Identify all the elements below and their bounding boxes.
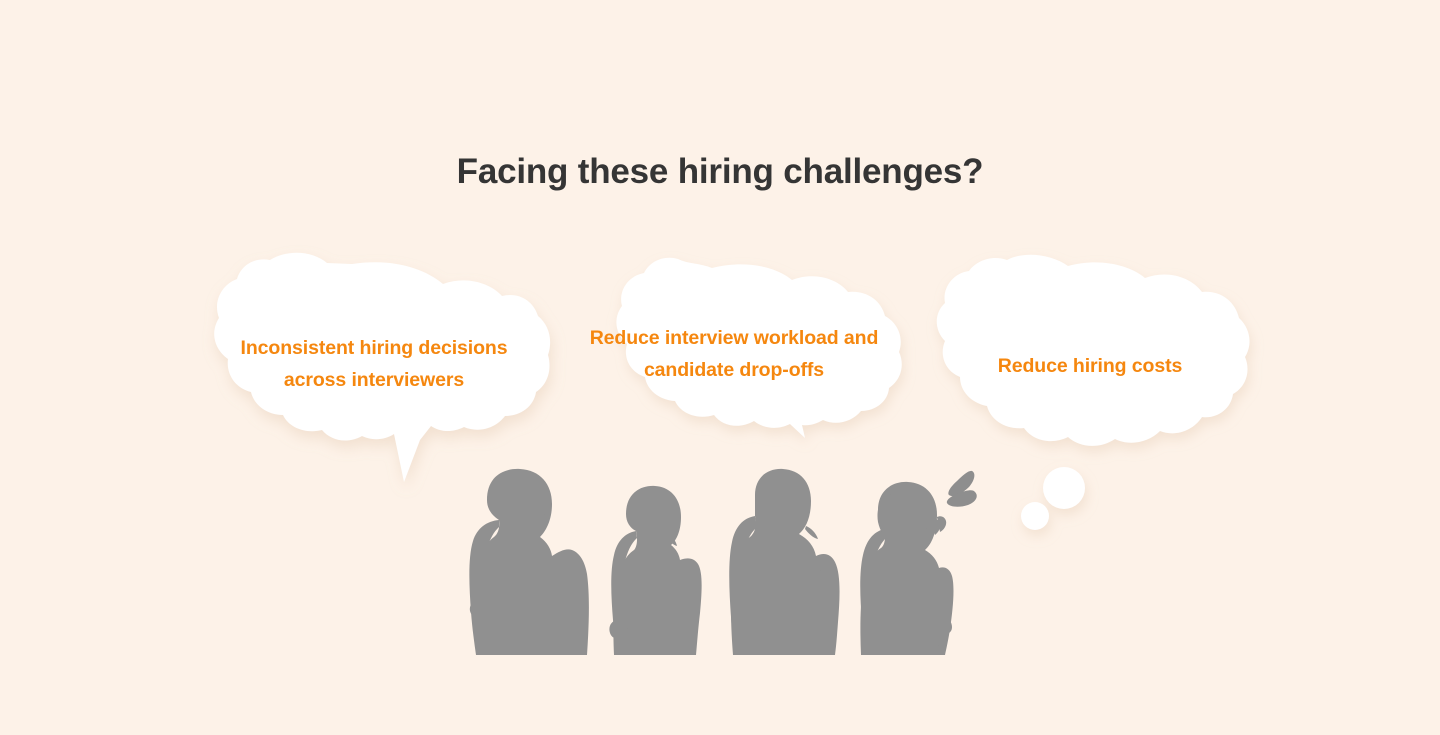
bubble-1-line-1: Inconsistent hiring decisions	[216, 332, 532, 364]
person-1-silhouette	[469, 469, 589, 655]
bubble-1-label: Inconsistent hiring decisions across int…	[216, 332, 532, 396]
bubble-3[interactable]	[937, 255, 1250, 530]
bubble-2-line-2: candidate drop-offs	[578, 354, 890, 386]
person-4-silhouette	[860, 482, 953, 655]
bubble-2-line-1: Reduce interview workload and	[578, 322, 890, 354]
thought-dot-large	[1043, 467, 1085, 509]
person-3-silhouette	[729, 469, 839, 655]
bubble-2-label: Reduce interview workload and candidate …	[578, 322, 890, 386]
bubble-3-label: Reduce hiring costs	[950, 350, 1230, 382]
silhouette-group	[469, 469, 976, 655]
person-2-silhouette	[609, 486, 701, 655]
bubble-3-line-1: Reduce hiring costs	[950, 350, 1230, 382]
hero-section: Facing these hiring challenges?	[0, 0, 1440, 735]
bubble-1-line-2: across interviewers	[216, 364, 532, 396]
thought-dot-small	[1021, 502, 1049, 530]
frustration-marks	[947, 471, 977, 507]
